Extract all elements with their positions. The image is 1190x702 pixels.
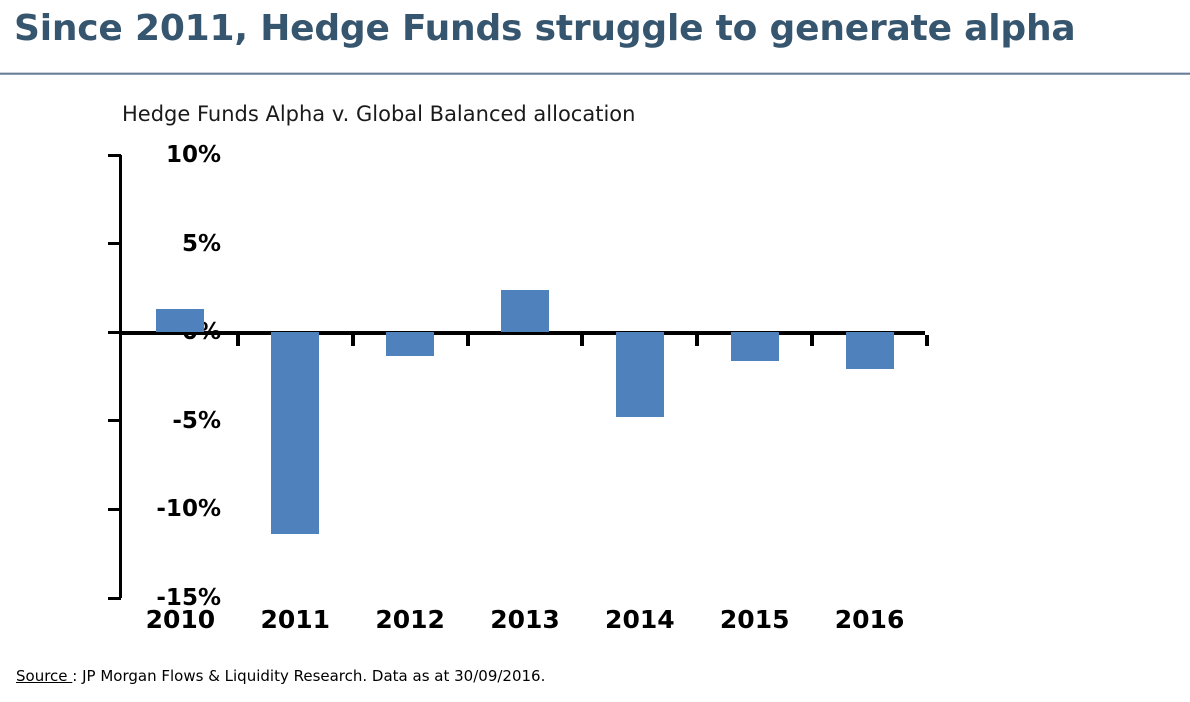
source-note: Source : JP Morgan Flows & Liquidity Res… [16,667,545,685]
bar-2012 [386,332,434,356]
y-axis-label: 10% [166,142,221,168]
x-tick [810,335,814,346]
bar-2011 [271,332,319,534]
x-axis-label-2014: 2014 [605,605,675,634]
x-tick [236,335,240,346]
y-axis-labels: 10%5%0%-5%-10%-15% [117,155,221,598]
x-axis-label-2010: 2010 [146,605,216,634]
plot-area: 10%5%0%-5%-10%-15% 201020112012201320142… [121,155,925,598]
x-axis-label-2012: 2012 [375,605,445,634]
x-tick [925,335,929,346]
x-axis-label-2016: 2016 [835,605,905,634]
source-text: : JP Morgan Flows & Liquidity Research. … [72,667,545,685]
page-title: Since 2011, Hedge Funds struggle to gene… [14,6,1184,51]
y-axis-label: 5% [182,231,221,257]
bar-2015 [731,332,779,360]
title-divider [0,72,1190,75]
source-label: Source [16,667,72,685]
x-axis-label-2013: 2013 [490,605,560,634]
x-tick [695,335,699,346]
chart-title: Hedge Funds Alpha v. Global Balanced all… [122,102,635,126]
y-axis-label: -10% [156,496,221,522]
x-tick [466,335,470,346]
x-axis-label-2015: 2015 [720,605,790,634]
x-axis-label-2011: 2011 [260,605,330,634]
bar-2010 [156,309,204,332]
x-tick [351,335,355,346]
bar-chart: Hedge Funds Alpha v. Global Balanced all… [0,88,1190,648]
x-axis-labels: 2010201120122013201420152016 [121,598,925,658]
y-axis-label: -5% [172,408,221,434]
bar-2014 [616,332,664,417]
bar-2013 [501,290,549,333]
bar-2016 [846,332,894,369]
x-tick [580,335,584,346]
